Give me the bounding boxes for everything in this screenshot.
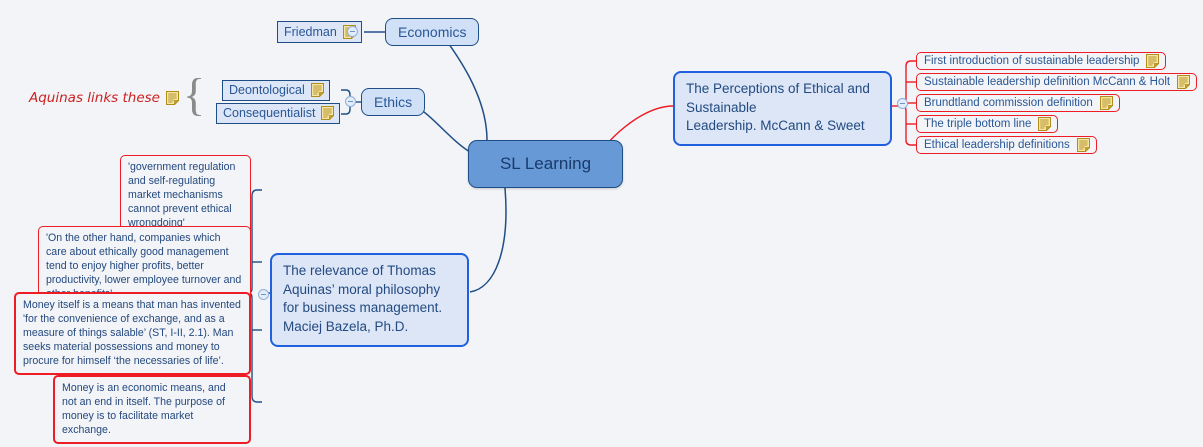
quote-government-regulation[interactable]: 'government regulation and self-regulati… bbox=[120, 155, 251, 236]
collapse-toggle-perceptions[interactable] bbox=[897, 98, 908, 109]
collapse-toggle-ethics[interactable] bbox=[345, 96, 356, 107]
node-deontological[interactable]: Deontological bbox=[222, 80, 330, 101]
node-friedman-label: Friedman bbox=[284, 25, 337, 39]
node-perceptions-line-3: Leadership. McCann & Sweet bbox=[686, 117, 879, 136]
node-perceptions-line-1: The Perceptions of Ethical and bbox=[686, 80, 879, 99]
node-economics-label: Economics bbox=[398, 24, 466, 40]
note-icon bbox=[1038, 117, 1051, 131]
note-icon bbox=[311, 83, 324, 97]
note-icon bbox=[1146, 54, 1159, 68]
leaf-label: Brundtland commission definition bbox=[924, 97, 1093, 109]
quote-text: 'government regulation and self-regulati… bbox=[128, 161, 235, 229]
node-aquinas-line-1: The relevance of Thomas bbox=[283, 262, 456, 281]
leaf-label: Sustainable leadership definition McCann… bbox=[924, 76, 1170, 88]
quote-text: Money is an economic means, and not an e… bbox=[62, 382, 226, 436]
node-consequentialist[interactable]: Consequentialist bbox=[216, 103, 340, 124]
node-aquinas-line-2: Aquinas’ moral philosophy bbox=[283, 281, 456, 300]
node-economics[interactable]: Economics bbox=[385, 18, 479, 46]
curly-brace-glyph: { bbox=[183, 69, 205, 120]
leaf-label: Ethical leadership definitions bbox=[924, 139, 1070, 151]
note-icon bbox=[166, 91, 179, 105]
quote-money-is-a-means[interactable]: Money itself is a means that man has inv… bbox=[14, 292, 251, 375]
leaf-ethical-leadership-definitions[interactable]: Ethical leadership definitions bbox=[916, 136, 1097, 154]
leaf-first-introduction[interactable]: First introduction of sustainable leader… bbox=[916, 52, 1166, 70]
leaf-label: First introduction of sustainable leader… bbox=[924, 55, 1139, 67]
wire-central-economics bbox=[441, 33, 487, 140]
note-icon bbox=[321, 106, 334, 120]
central-node[interactable]: SL Learning bbox=[468, 140, 623, 188]
floating-label-text: Aquinas links these bbox=[29, 90, 160, 106]
leaf-triple-bottom-line[interactable]: The triple bottom line bbox=[916, 115, 1058, 133]
quote-text: Money itself is a means that man has inv… bbox=[23, 299, 241, 367]
node-ethics-label: Ethics bbox=[374, 94, 412, 110]
mindmap-canvas: SL Learning Economics Friedman Ethics De… bbox=[0, 0, 1203, 447]
floating-label-aquinas-links[interactable]: Aquinas links these bbox=[29, 90, 179, 106]
note-icon bbox=[1177, 75, 1190, 89]
collapse-toggle-aquinas-paper[interactable] bbox=[258, 289, 269, 300]
node-deontological-label: Deontological bbox=[229, 83, 305, 97]
node-perceptions-paper[interactable]: The Perceptions of Ethical and Sustainab… bbox=[673, 71, 892, 146]
note-icon bbox=[1100, 96, 1113, 110]
leaf-label: The triple bottom line bbox=[924, 118, 1031, 130]
quote-text: 'On the other hand, companies which care… bbox=[46, 232, 241, 300]
collapse-toggle-economics[interactable] bbox=[347, 26, 358, 37]
wire-central-aquinas bbox=[470, 188, 506, 292]
node-perceptions-line-2: Sustainable bbox=[686, 99, 879, 118]
quote-money-economic-means[interactable]: Money is an economic means, and not an e… bbox=[53, 375, 251, 444]
node-consequentialist-label: Consequentialist bbox=[223, 106, 315, 120]
node-aquinas-paper[interactable]: The relevance of Thomas Aquinas’ moral p… bbox=[270, 253, 469, 347]
node-aquinas-line-4: Maciej Bazela, Ph.D. bbox=[283, 318, 456, 337]
note-icon bbox=[1077, 138, 1090, 152]
central-node-label: SL Learning bbox=[500, 154, 591, 174]
leaf-sustainable-leadership-definition[interactable]: Sustainable leadership definition McCann… bbox=[916, 73, 1197, 91]
leaf-brundtland-commission[interactable]: Brundtland commission definition bbox=[916, 94, 1120, 112]
node-aquinas-line-3: for business management. bbox=[283, 299, 456, 318]
curly-brace-decoration: { bbox=[183, 72, 205, 118]
node-ethics[interactable]: Ethics bbox=[361, 88, 425, 116]
